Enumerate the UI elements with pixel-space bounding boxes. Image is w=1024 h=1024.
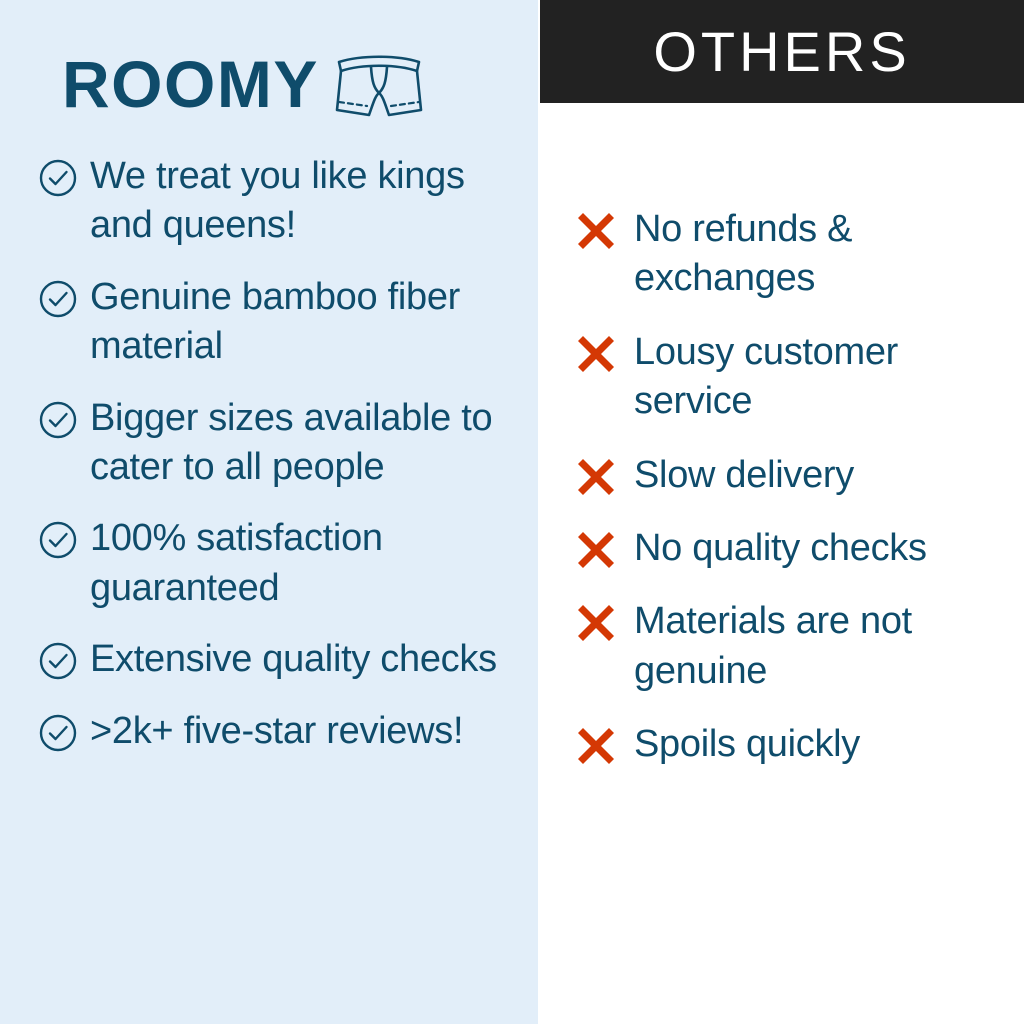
others-title: OTHERS	[653, 24, 910, 80]
cross-mark-icon	[574, 332, 618, 376]
brand-name: ROOMY	[62, 51, 319, 117]
others-panel: OTHERS No refunds & exchanges Lousy cust…	[538, 0, 1024, 1024]
list-item: No refunds & exchanges	[574, 205, 1024, 304]
circle-check-icon	[38, 279, 78, 319]
list-item-label: No refunds & exchanges	[634, 205, 1024, 304]
comparison-infographic: ROOMY We treat you like king	[0, 0, 1024, 1024]
list-item-label: Lousy customer service	[634, 328, 1024, 427]
list-item: Extensive quality checks	[38, 635, 536, 684]
list-item-label: Genuine bamboo fiber material	[90, 273, 536, 372]
list-item: Spoils quickly	[574, 720, 1024, 769]
list-item-label: We treat you like kings and queens!	[90, 152, 536, 251]
list-item: Lousy customer service	[574, 328, 1024, 427]
list-item: No quality checks	[574, 524, 1024, 573]
circle-check-icon	[38, 158, 78, 198]
circle-check-icon	[38, 400, 78, 440]
others-header-bar: OTHERS	[540, 0, 1024, 103]
cross-mark-icon	[574, 209, 618, 253]
list-item: Bigger sizes available to cater to all p…	[38, 394, 536, 493]
roomy-panel: ROOMY We treat you like king	[0, 0, 538, 1024]
boxer-briefs-icon	[333, 52, 425, 122]
circle-check-icon	[38, 520, 78, 560]
cross-mark-icon	[574, 724, 618, 768]
list-item-label: Materials are not genuine	[634, 597, 1024, 696]
list-item: We treat you like kings and queens!	[38, 152, 536, 251]
list-item: 100% satisfaction guaranteed	[38, 514, 536, 613]
list-item: Genuine bamboo fiber material	[38, 273, 536, 372]
pros-list: We treat you like kings and queens! Genu…	[38, 152, 536, 778]
circle-check-icon	[38, 713, 78, 753]
cross-mark-icon	[574, 601, 618, 645]
cons-list: No refunds & exchanges Lousy customer se…	[574, 205, 1024, 794]
list-item-label: Spoils quickly	[634, 720, 860, 769]
list-item-label: Slow delivery	[634, 451, 854, 500]
list-item: >2k+ five-star reviews!	[38, 707, 536, 756]
list-item-label: No quality checks	[634, 524, 927, 573]
list-item-label: 100% satisfaction guaranteed	[90, 514, 536, 613]
list-item-label: Extensive quality checks	[90, 635, 497, 684]
list-item-label: >2k+ five-star reviews!	[90, 707, 463, 756]
list-item-label: Bigger sizes available to cater to all p…	[90, 394, 536, 493]
cross-mark-icon	[574, 528, 618, 572]
circle-check-icon	[38, 641, 78, 681]
cross-mark-icon	[574, 455, 618, 499]
list-item: Materials are not genuine	[574, 597, 1024, 696]
brand-lockup: ROOMY	[62, 46, 425, 122]
list-item: Slow delivery	[574, 451, 1024, 500]
